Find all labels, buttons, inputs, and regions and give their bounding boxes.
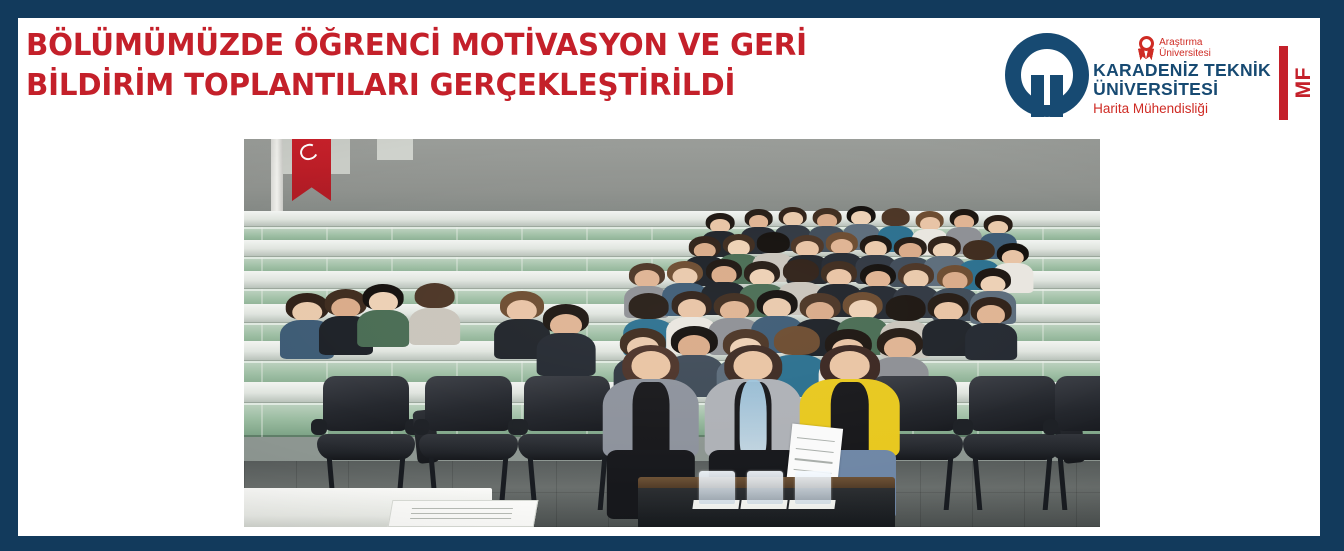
rosette-ribbon-icon [1137, 36, 1156, 60]
chair-arm-left [1043, 419, 1059, 435]
student-torso [409, 308, 461, 345]
flag-crescent [298, 141, 320, 162]
faculty-mark-bar [1279, 46, 1288, 120]
title-line-1: BÖLÜMÜMÜZDE ÖĞRENCİ MOTİVASYON VE GERİ [26, 26, 938, 66]
faculty-mark: MF [1279, 46, 1314, 120]
emblem-notch [1044, 75, 1050, 105]
poster-card: BÖLÜMÜMÜZDE ÖĞRENCİ MOTİVASYON VE GERİ B… [18, 18, 1320, 536]
speaker-head [829, 351, 870, 380]
faculty-mark-letters: MF [1293, 67, 1314, 98]
water-glass [747, 471, 783, 504]
water-glass [795, 471, 831, 504]
desk-paper [387, 500, 537, 527]
speaker-head [631, 351, 670, 380]
chair-leg-right [944, 457, 954, 510]
chair-back [524, 376, 611, 431]
student-torso [536, 333, 595, 375]
chair-arm-left [512, 419, 528, 435]
seated-student [544, 310, 589, 376]
logo-text-block: Araştırma Üniversitesi KARADENİZ TEKNİK … [1093, 27, 1271, 123]
chair-arm-left [414, 419, 430, 435]
student-torso [965, 323, 1017, 360]
chair-seat [1049, 434, 1100, 460]
speaker-inner-top [632, 382, 669, 457]
water-glass [699, 471, 735, 504]
foreground-chair [1049, 376, 1100, 508]
chair-leg-left [973, 457, 983, 510]
research-badge-line-2: Üniversitesi [1159, 48, 1211, 59]
chair-leg-left [1058, 457, 1068, 510]
student-torso [358, 310, 410, 347]
title-line-2: BİLDİRİM TOPLANTILARI GERÇEKLEŞTİRİLDİ [26, 66, 938, 106]
chair-arm-left [957, 419, 973, 435]
seated-student [972, 302, 1011, 360]
ktu-emblem-icon [1005, 33, 1089, 117]
research-university-badge: Araştırma Üniversitesi [1137, 36, 1271, 60]
emblem-bar-right [1050, 75, 1063, 117]
chair-arm-left [311, 419, 327, 435]
seat-divider [261, 403, 263, 436]
poster-header: BÖLÜMÜMÜZDE ÖĞRENCİ MOTİVASYON VE GERİ B… [18, 18, 1320, 128]
university-name-line-2: ÜNİVERSİTESİ [1093, 80, 1271, 99]
emblem-bar-left [1031, 75, 1044, 117]
chair-back [1055, 376, 1100, 431]
page-title: BÖLÜMÜMÜZDE ÖĞRENCİ MOTİVASYON VE GERİ B… [26, 26, 976, 106]
department-name: Harita Mühendisliği [1093, 100, 1271, 117]
research-badge-line-1: Araştırma [1159, 37, 1211, 48]
speaker-head [734, 351, 773, 380]
seated-student [364, 289, 403, 347]
seated-student [415, 287, 454, 345]
research-badge-text: Araştırma Üniversitesi [1159, 36, 1211, 59]
seated-student [929, 298, 968, 356]
university-name-line-1: KARADENİZ TEKNİK [1093, 61, 1271, 80]
ktu-logo-lockup: Araştırma Üniversitesi KARADENİZ TEKNİK … [1005, 22, 1314, 128]
chair-back [425, 376, 512, 431]
poster-root: BÖLÜMÜMÜZDE ÖĞRENCİ MOTİVASYON VE GERİ B… [0, 0, 1344, 551]
wall-panel-small [377, 139, 413, 160]
photo-scene [244, 139, 1100, 527]
lecture-hall-group-photo [244, 139, 1100, 527]
foreground-chair [963, 376, 1061, 508]
chair-back [323, 376, 410, 431]
